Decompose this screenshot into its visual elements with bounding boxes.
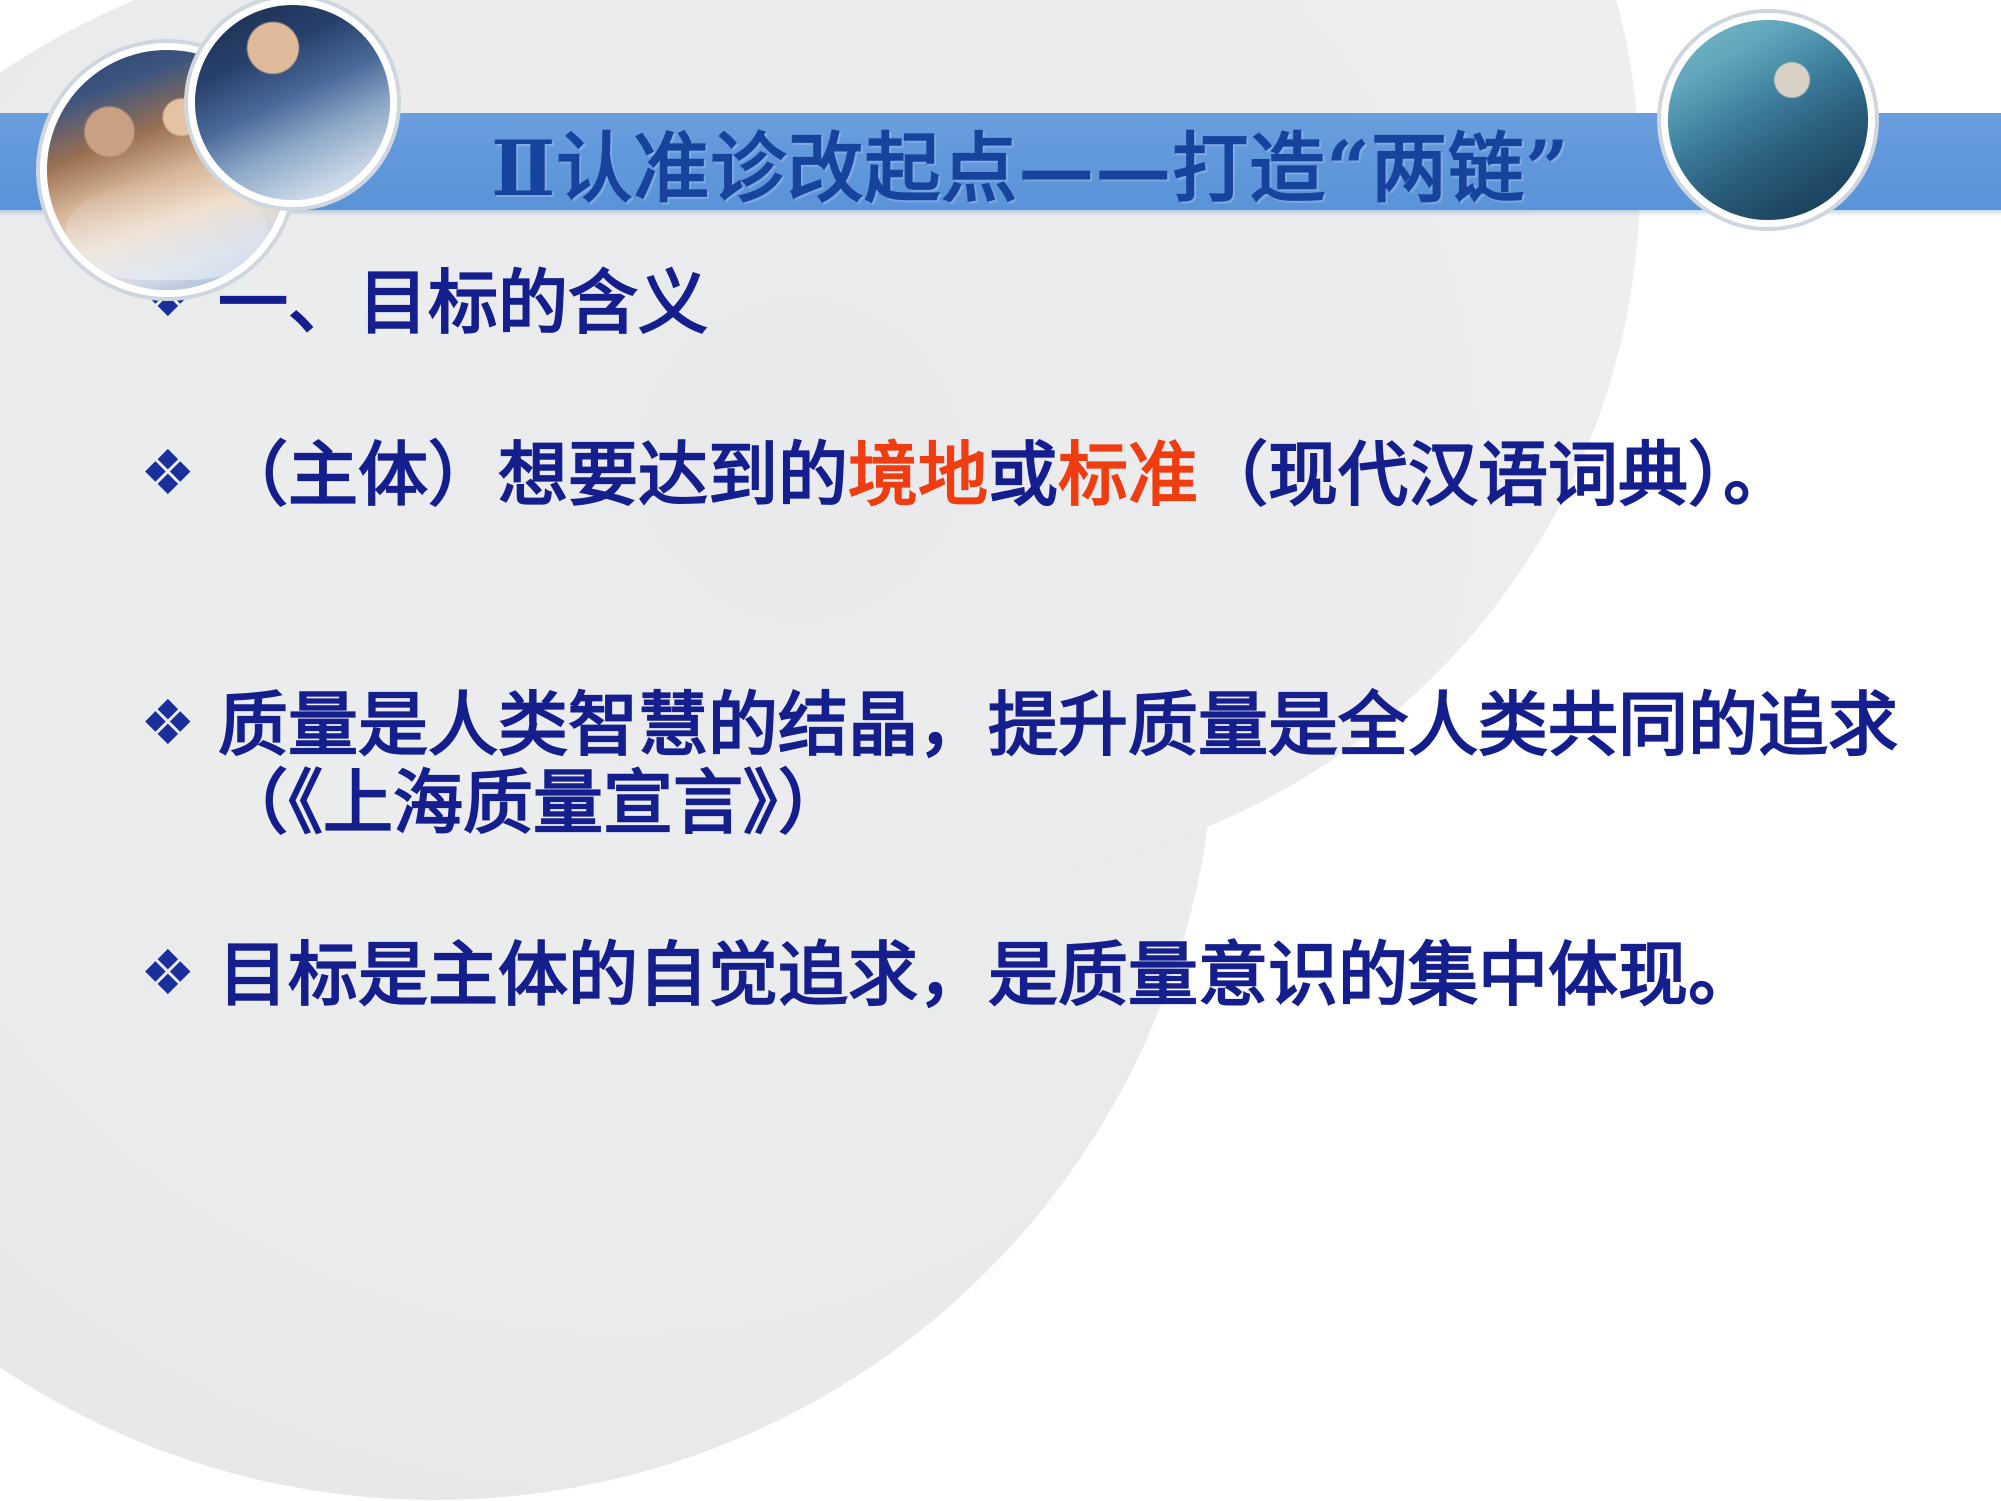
bullet-text-segment: （现代汉语词典）。 bbox=[1198, 434, 1793, 516]
photo-bubble-handshake bbox=[195, 5, 390, 200]
slide-body: ❖ 一、目标的含义 ❖ （主体）想要达到的境地或标准（现代汉语词典）。 ❖ 质量… bbox=[0, 236, 2001, 1501]
presentation-slide: Ⅱ认准诊改起点——打造“两链” ❖ 一、目标的含义 ❖ （主体）想要达到的境地或… bbox=[0, 0, 2001, 1501]
photo-bubble-image-2 bbox=[195, 5, 390, 200]
bullet-text-segment: 标准 bbox=[1058, 434, 1198, 516]
diamond-bullet-icon: ❖ bbox=[140, 436, 218, 504]
bullet-item-2: ❖ （主体）想要达到的境地或标准（现代汉语词典）。 bbox=[140, 436, 1940, 514]
slide-title-text: Ⅱ认准诊改起点——打造“两链” bbox=[491, 107, 1569, 217]
bullet-text-segment: 境地 bbox=[848, 434, 988, 516]
bullet-3-text: 质量是人类智慧的结晶，提升质量是全人类共同的追求（《上海质量宣言》） bbox=[218, 686, 1918, 843]
bullet-item-4: ❖ 目标是主体的自觉追求，是质量意识的集中体现。 bbox=[140, 936, 1960, 1014]
bullet-2-text: （主体）想要达到的境地或标准（现代汉语词典）。 bbox=[218, 436, 1908, 514]
photo-bubble-image-3 bbox=[1668, 20, 1868, 220]
photo-bubble-presenter bbox=[1668, 20, 1868, 220]
bullet-text-segment: 质量是人类智慧的结晶，提升质量是全人类共同的追求（《上海质量宣言》） bbox=[218, 684, 1898, 844]
bullet-text-segment: （主体）想要达到的 bbox=[218, 434, 848, 516]
diamond-bullet-icon: ❖ bbox=[140, 686, 218, 754]
diamond-bullet-icon: ❖ bbox=[140, 936, 218, 1004]
bullet-text-segment: 或 bbox=[988, 434, 1058, 516]
bullet-text-segment: 一、目标的含义 bbox=[218, 262, 708, 344]
bullet-text-segment: 目标是主体的自觉追求，是质量意识的集中体现。 bbox=[218, 934, 1758, 1016]
bullet-4-text: 目标是主体的自觉追求，是质量意识的集中体现。 bbox=[218, 936, 1918, 1014]
bullet-item-3: ❖ 质量是人类智慧的结晶，提升质量是全人类共同的追求（《上海质量宣言》） bbox=[140, 686, 1960, 843]
bullet-1-text: 一、目标的含义 bbox=[218, 264, 708, 342]
